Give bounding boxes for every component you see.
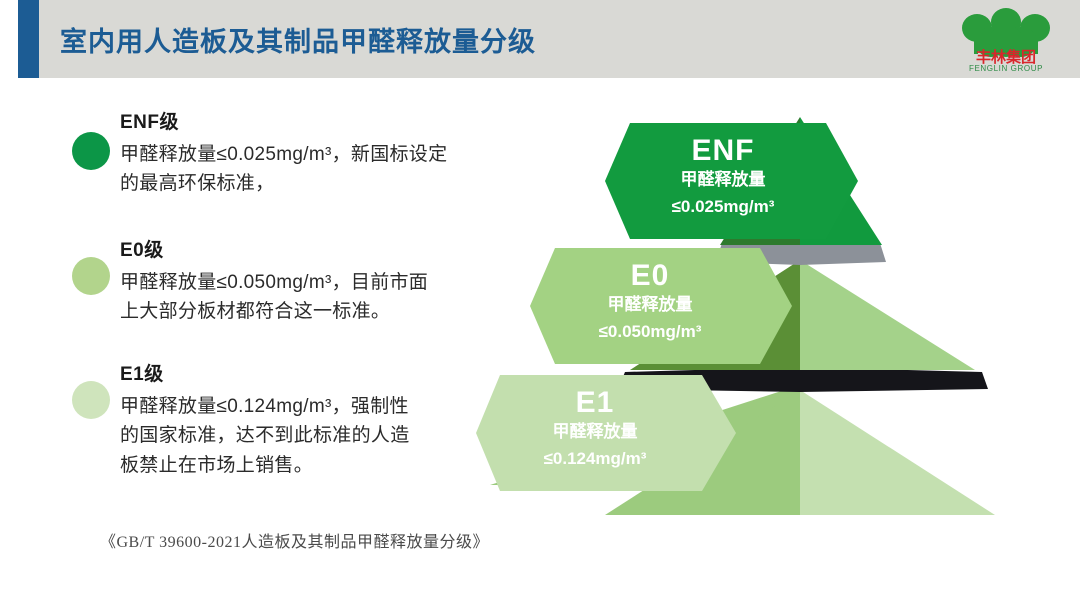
pyramid-banner-enf-metric: 甲醛释放量 [681, 169, 766, 189]
grade-label-e0: E0级 [120, 235, 480, 262]
bullet-dot-enf [72, 132, 110, 170]
pyramid-banner-e0-metric: 甲醛释放量 [608, 294, 693, 314]
pyramid-banner-e1-value: ≤0.124mg/m³ [544, 449, 647, 468]
list-item-enf: ENF级 甲醛释放量≤0.025mg/m³，新国标设定 的最高环保标准， [0, 107, 500, 217]
page-title: 室内用人造板及其制品甲醛释放量分级 [60, 20, 536, 59]
list-item-e0: E0级 甲醛释放量≤0.050mg/m³，目前市面 上大部分板材都符合这一标准。 [0, 235, 500, 345]
pyramid-banner-enf: ENF 甲醛释放量 ≤0.025mg/m³ [605, 123, 858, 239]
pyramid-banner-enf-value: ≤0.025mg/m³ [672, 197, 775, 216]
pyramid-banner-e0: E0 甲醛释放量 ≤0.050mg/m³ [530, 248, 792, 364]
pyramid-banner-e0-label: E0 [631, 259, 670, 292]
grade-desc-enf-line2: 的最高环保标准， [120, 169, 480, 198]
standard-citation: 《GB/T 39600-2021人造板及其制品甲醛释放量分级》 [100, 528, 520, 552]
pyramid-chart: E1 甲醛释放量 ≤0.124mg/m³ E0 甲醛释放量 ≤0.050mg/m… [470, 95, 1080, 535]
list-item-e1: E1级 甲醛释放量≤0.124mg/m³，强制性 的国家标准，达不到此标准的人造… [0, 359, 500, 480]
header-accent-bar [18, 0, 39, 78]
grade-list: ENF级 甲醛释放量≤0.025mg/m³，新国标设定 的最高环保标准， E0级… [0, 95, 500, 436]
pyramid-banner-e0-value: ≤0.050mg/m³ [599, 322, 702, 341]
bullet-dot-e0 [72, 257, 110, 295]
pyramid-level-e0-right-face [800, 260, 975, 370]
bullet-dot-e1 [72, 381, 110, 419]
grade-desc-e0-line2: 上大部分板材都符合这一标准。 [120, 297, 480, 326]
slide: 室内用人造板及其制品甲醛释放量分级 丰林集团 FENGLIN GROUP E [0, 0, 1080, 608]
grade-desc-e0-line1: 甲醛释放量≤0.050mg/m³，目前市面 [120, 268, 480, 297]
pyramid-banner-e1: E1 甲醛释放量 ≤0.124mg/m³ [476, 375, 736, 491]
logo-name-en: FENGLIN GROUP [969, 64, 1043, 73]
pyramid-banner-e1-metric: 甲醛释放量 [553, 421, 638, 441]
pyramid-banner-e1-label: E1 [576, 386, 615, 419]
pyramid-banner-enf-label: ENF [692, 134, 755, 167]
grade-desc-e1-line2: 的国家标准，达不到此标准的人造 [120, 421, 480, 450]
grade-desc-enf-line1: 甲醛释放量≤0.025mg/m³，新国标设定 [120, 140, 480, 169]
grade-label-e1: E1级 [120, 359, 480, 386]
company-logo: 丰林集团 FENGLIN GROUP [955, 8, 1057, 74]
pyramid-separator-e0-e1-right [800, 367, 988, 392]
grade-label-enf: ENF级 [120, 107, 480, 134]
grade-desc-e1-line3: 板禁止在市场上销售。 [120, 451, 480, 480]
grade-desc-e1-line1: 甲醛释放量≤0.124mg/m³，强制性 [120, 392, 480, 421]
pyramid-level-e1-right-face [800, 390, 995, 515]
